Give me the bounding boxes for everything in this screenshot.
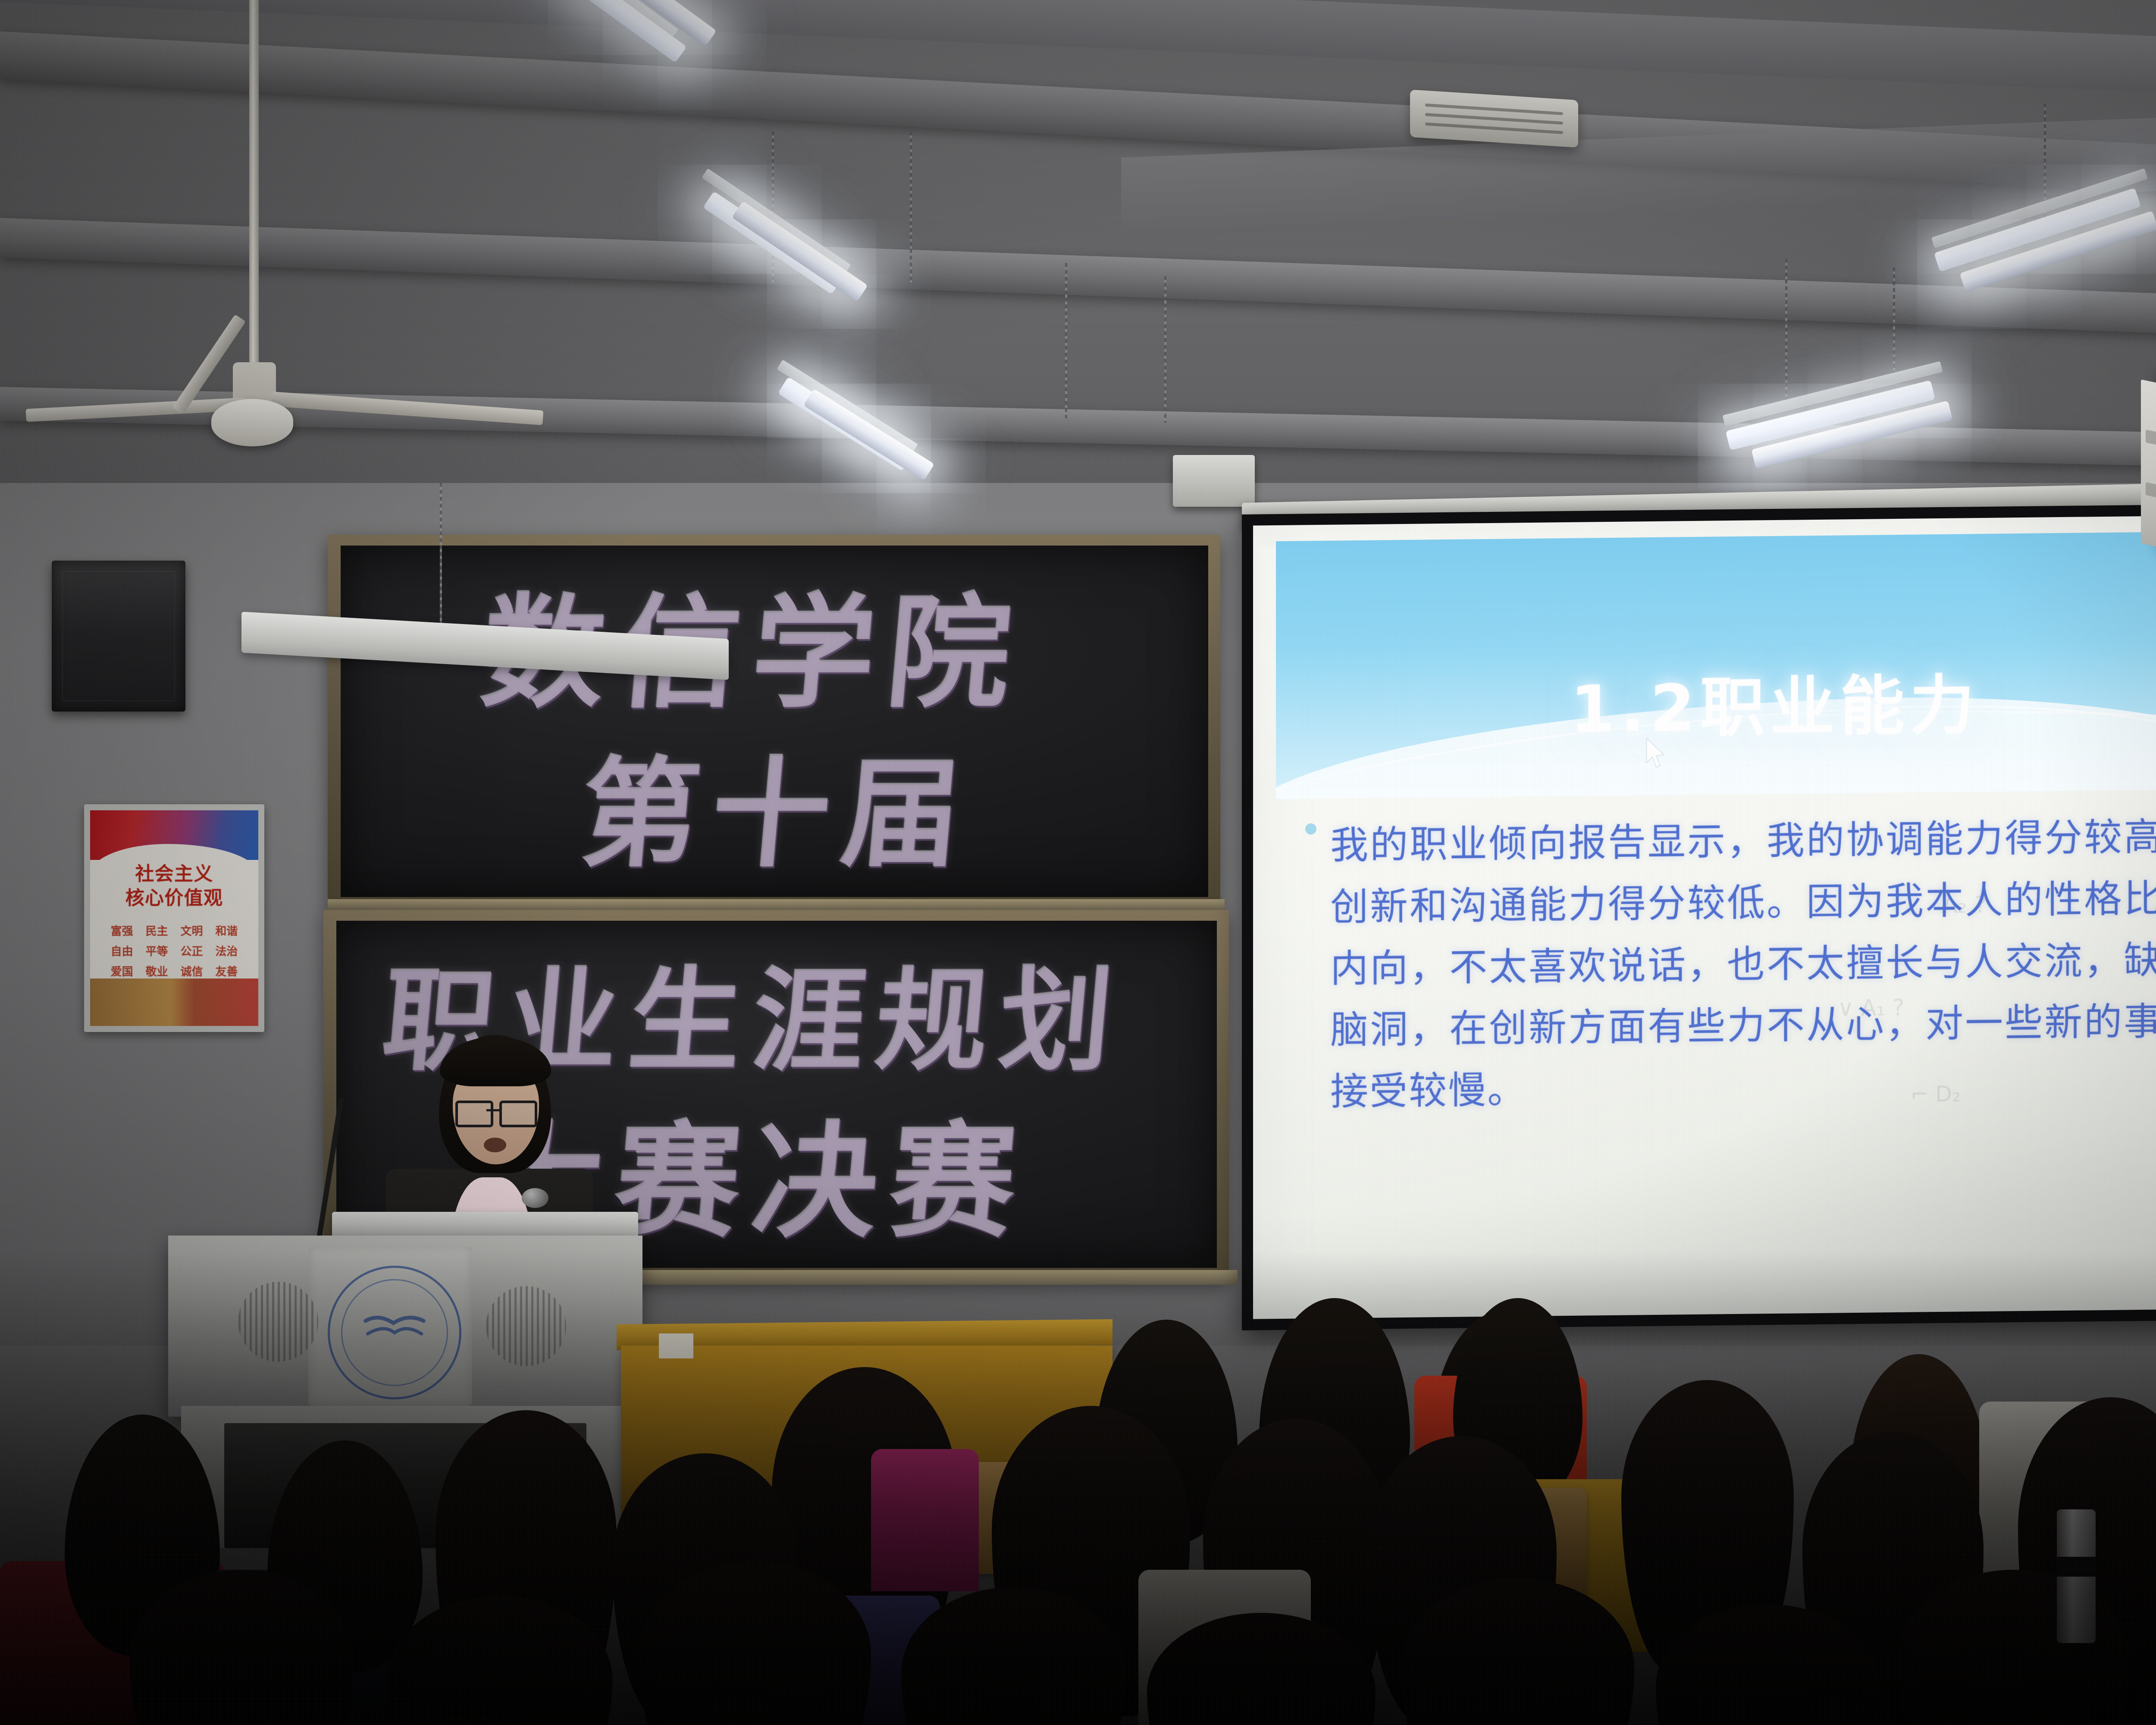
- poster-value-9: 敬业: [140, 963, 173, 979]
- poster-sky-graphic: [90, 810, 258, 860]
- presenter-glasses-right: [499, 1101, 537, 1127]
- blackboard-light-chain: [440, 483, 442, 630]
- poster-value-2: 文明: [175, 922, 208, 938]
- blackboard-chalk-tray-upper: [328, 899, 1225, 911]
- poster-values-grid: 富强 民主 文明 和谐 自由 平等 公正 法治 爱国 敬业 诚信 友善: [105, 922, 243, 979]
- wood-panel-label: [659, 1333, 693, 1358]
- light-chain-4: [1164, 276, 1166, 423]
- podium-speaker-grille-right: [481, 1281, 571, 1371]
- podium-speaker-grille-left: [233, 1276, 323, 1367]
- presenter-glasses-bridge: [486, 1109, 501, 1111]
- poster-value-11: 友善: [210, 963, 243, 979]
- light-chain-5: [2044, 103, 2046, 233]
- slide-bullet-icon: [1305, 823, 1316, 834]
- projector-cage-front-plate: [2141, 379, 2156, 561]
- presenter-mouth: [484, 1138, 506, 1152]
- water-bottle-band: [2057, 1557, 2096, 1577]
- blackboard-text-line2: 第十届: [575, 718, 981, 890]
- slide-title: 1.2职业能力: [1253, 649, 2156, 754]
- light-chain-1: [772, 132, 774, 282]
- water-bottle: [2057, 1509, 2096, 1643]
- poster-value-5: 平等: [140, 943, 173, 959]
- slide-body-text: 我的职业倾向报告显示，我的协调能力得分较高而创新和沟通能力得分较低。因为我本人的…: [1330, 806, 2156, 1123]
- poster-value-8: 爱国: [105, 963, 138, 979]
- poster-value-0: 富强: [105, 922, 138, 938]
- poster-footer-graphic: [90, 979, 258, 1026]
- light-chain-2: [910, 132, 912, 282]
- university-emblem: [328, 1266, 461, 1399]
- poster-value-4: 自由: [105, 943, 138, 959]
- seagull-icon: [362, 1312, 427, 1342]
- slide: 1.2职业能力 我的职业倾向报告显示，我的协调能力得分较高而创新和沟通能力得分较…: [1253, 514, 2156, 1319]
- projection-screen-case: [1173, 455, 1255, 507]
- classroom-photo-scene: 数信学院 第十届 职业生涯规划 大赛决赛 A₂ ? ∨ A₁ ? ⌐ D₂ 1.…: [0, 0, 2156, 1725]
- ceiling-fan-rod: [249, 0, 259, 379]
- poster-value-7: 法治: [210, 943, 243, 959]
- poster-value-1: 民主: [140, 922, 173, 938]
- poster-value-6: 公正: [175, 943, 208, 959]
- projection-screen: A₂ ? ∨ A₁ ? ⌐ D₂ 1.2职业能力 我的职业倾向报告显示，我的协调…: [1242, 503, 2156, 1330]
- poster-value-3: 和谐: [210, 922, 243, 938]
- light-chain-3: [1065, 263, 1067, 418]
- audience-torso: [871, 1449, 979, 1591]
- socialist-core-values-poster: 社会主义核心价值观 富强 民主 文明 和谐 自由 平等 公正 法治 爱国 敬业 …: [84, 804, 264, 1032]
- presenter-hair-front: [440, 1037, 551, 1086]
- light-chain-7: [1785, 259, 1787, 401]
- poster-heading: 社会主义核心价值观: [90, 862, 258, 911]
- ceiling-fan-cap: [211, 399, 293, 446]
- poster-value-10: 诚信: [175, 963, 208, 979]
- projection-screen-surface: A₂ ? ∨ A₁ ? ⌐ D₂ 1.2职业能力 我的职业倾向报告显示，我的协调…: [1253, 514, 2156, 1319]
- podium-microphone-head: [522, 1188, 548, 1208]
- wall-speaker-left: [52, 561, 185, 712]
- mouse-cursor-icon: [1645, 737, 1668, 771]
- presenter-glasses-left: [455, 1101, 493, 1127]
- light-chain-8: [1893, 267, 1895, 405]
- blackboard-upper: 数信学院 第十届: [341, 546, 1208, 897]
